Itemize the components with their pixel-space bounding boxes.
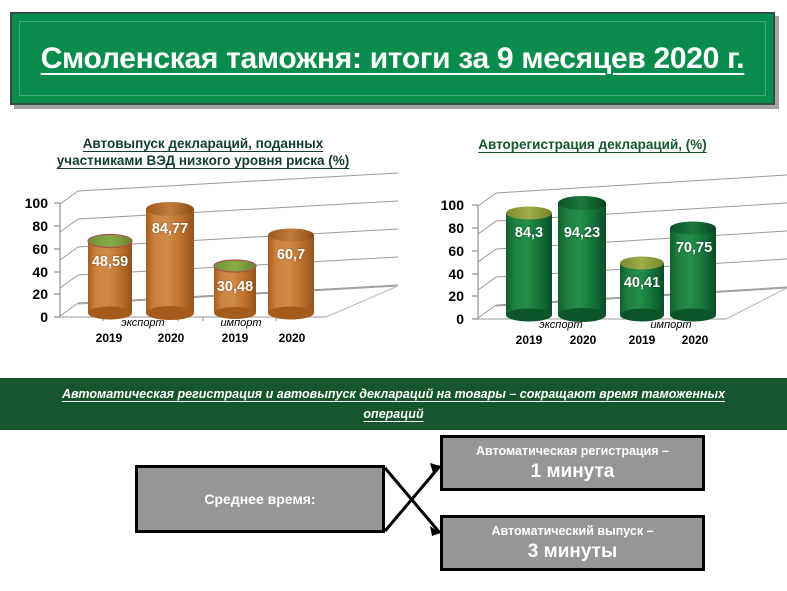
y-tick-20: 20	[424, 288, 464, 304]
y-tick-0: 0	[8, 309, 48, 325]
x-year-import-2019: 2019	[204, 331, 266, 345]
average-time-label: Среднее время:	[204, 491, 315, 508]
summary-banner: Автоматическая регистрация и автовыпуск …	[0, 378, 787, 430]
auto-release-box: Автоматический выпуск – 3 минуты	[440, 515, 705, 571]
data-label-export-2020: 94,23	[553, 225, 611, 241]
y-tick-80: 80	[8, 218, 48, 234]
data-label-export-2019: 84,3	[500, 225, 558, 241]
auto-release-label: Автоматический выпуск –	[491, 523, 653, 540]
data-label-import-2020: 70,75	[664, 240, 724, 256]
auto-registration-value: 1 минута	[531, 460, 615, 483]
chart-avtovypusk-title-line1: Автовыпуск деклараций, поданных	[38, 135, 368, 152]
chart-avtovypusk-title-line2: участниками ВЭД низкого уровня риска (%)	[38, 152, 368, 169]
y-tick-20: 20	[8, 286, 48, 302]
x-year-export-2020: 2020	[552, 333, 614, 347]
page-title: Смоленская таможня: итоги за 9 месяцев 2…	[41, 42, 745, 76]
auto-registration-label: Автоматическая регистрация –	[476, 443, 669, 460]
y-tick-100: 100	[424, 197, 464, 213]
chart-avtovypusk-title: Автовыпуск деклараций, поданных участник…	[38, 130, 368, 169]
data-label-import-2019: 40,41	[612, 275, 672, 291]
chart-avtoregistratsiya-title: Авторегистрация деклараций, (%)	[428, 130, 758, 153]
chart-avtovypusk: Автовыпуск деклараций, поданных участник…	[8, 130, 398, 370]
y-tick-60: 60	[424, 243, 464, 259]
data-label-export-2019: 48,59	[78, 254, 142, 270]
bar-export-2019	[506, 207, 552, 322]
data-label-import-2020: 60,7	[260, 247, 322, 263]
average-time-box: Среднее время:	[135, 465, 385, 533]
bar-export-2019	[88, 235, 132, 320]
x-year-export-2019: 2019	[78, 331, 140, 345]
data-label-export-2020: 84,77	[138, 221, 202, 237]
summary-banner-line1: Автоматическая регистрация и автовыпуск …	[44, 384, 744, 404]
bar-export-2020	[146, 202, 194, 320]
x-year-import-2020: 2020	[664, 333, 726, 347]
y-tick-0: 0	[424, 311, 464, 327]
x-year-import-2020: 2020	[261, 331, 323, 345]
x-year-export-2019: 2019	[498, 333, 560, 347]
slide-root: Смоленская таможня: итоги за 9 месяцев 2…	[0, 0, 787, 591]
chart-avtoregistratsiya-title-line1: Авторегистрация деклараций, (%)	[428, 136, 758, 153]
header-inner-frame: Смоленская таможня: итоги за 9 месяцев 2…	[19, 21, 766, 96]
y-tick-40: 40	[424, 266, 464, 282]
y-tick-40: 40	[8, 264, 48, 280]
auto-registration-box: Автоматическая регистрация – 1 минута	[440, 435, 705, 491]
chart-avtoregistratsiya: Авторегистрация деклараций, (%)	[398, 130, 787, 370]
chart-avtovypusk-svg	[8, 169, 398, 359]
x-year-export-2020: 2020	[140, 331, 202, 345]
summary-banner-line2: операций	[44, 404, 744, 424]
x-group-export: экспорт	[108, 317, 178, 329]
auto-release-value: 3 минуты	[528, 540, 617, 563]
y-tick-80: 80	[424, 220, 464, 236]
x-group-import: импорт	[206, 317, 276, 329]
bar-import-2020	[268, 229, 314, 320]
bar-export-2020	[558, 196, 606, 322]
chart-avtoregistratsiya-plot: 100 80 60 40 20 0 84,3 94,23 40,41 70,75…	[398, 171, 787, 361]
bar-import-2020	[670, 222, 716, 322]
y-tick-60: 60	[8, 241, 48, 257]
x-group-import: импорт	[636, 319, 706, 331]
x-group-export: экспорт	[526, 319, 596, 331]
average-time-diagram: Среднее время: Автоматическая регистраци…	[0, 430, 787, 591]
summary-banner-text: Автоматическая регистрация и автовыпуск …	[44, 384, 744, 424]
chart-avtovypusk-plot: 100 80 60 40 20 0 48,59 84,77 30,48 60,7…	[8, 169, 398, 359]
y-tick-100: 100	[8, 195, 48, 211]
header-banner: Смоленская таможня: итоги за 9 месяцев 2…	[10, 12, 775, 105]
data-label-import-2019: 30,48	[204, 279, 266, 295]
